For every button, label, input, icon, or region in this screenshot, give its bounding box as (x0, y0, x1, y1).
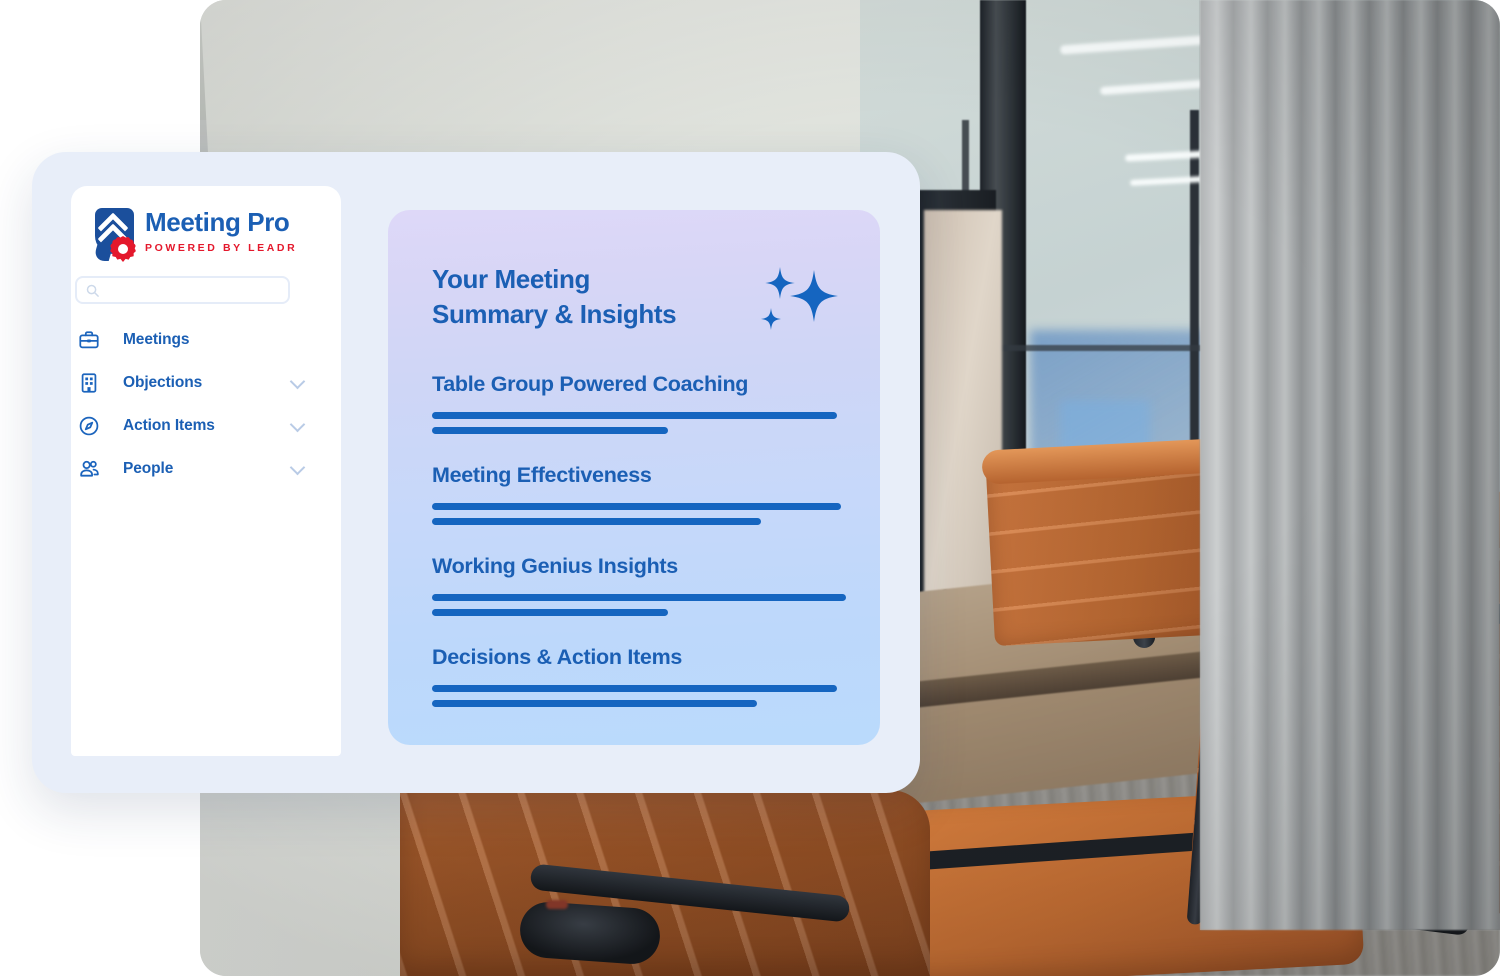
section-title: Meeting Effectiveness (432, 461, 854, 489)
search-icon (85, 283, 100, 298)
summary-sections: Table Group Powered Coaching Meeting Eff… (432, 370, 854, 707)
meeting-summary-card: Your Meeting Summary & Insights (388, 210, 880, 745)
placeholder-line-full (432, 594, 846, 601)
compass-icon (75, 412, 103, 440)
card-header: Your Meeting Summary & Insights (432, 262, 850, 340)
sidebar-item-label: People (123, 460, 173, 478)
sidebar-item-objections[interactable]: Objections (75, 361, 315, 404)
chevron-shield-icon (93, 208, 139, 260)
placeholder-line-full (432, 412, 837, 419)
sparkles-icon (758, 264, 844, 340)
briefcase-icon (75, 326, 103, 354)
building-icon (75, 369, 103, 397)
brand-tagline: POWERED BY LEADR (145, 240, 297, 256)
placeholder-line-short (432, 518, 761, 525)
sidebar: Meeting Pro POWERED BY LEADR (71, 186, 341, 756)
sidebar-item-label: Meetings (123, 331, 189, 349)
section-title: Working Genius Insights (432, 552, 854, 580)
chevron-down-icon[interactable] (290, 373, 306, 389)
summary-section: Working Genius Insights (432, 552, 854, 616)
section-placeholder-lines (432, 412, 854, 434)
section-placeholder-lines (432, 685, 854, 707)
summary-section: Decisions & Action Items (432, 643, 854, 707)
section-placeholder-lines (432, 503, 854, 525)
page-title: Your Meeting Summary & Insights (432, 262, 676, 332)
sidebar-item-meetings[interactable]: Meetings (75, 318, 315, 361)
card-title-line-1: Your Meeting (432, 262, 676, 297)
chevron-down-icon[interactable] (290, 416, 306, 432)
brand-logo: Meeting Pro POWERED BY LEADR (93, 206, 323, 264)
placeholder-line-short (432, 427, 668, 434)
gear-icon (110, 236, 136, 262)
sidebar-item-label: Action Items (123, 417, 215, 435)
sidebar-item-action-items[interactable]: Action Items (75, 404, 315, 447)
card-title-line-2: Summary & Insights (432, 297, 676, 332)
sidebar-item-people[interactable]: People (75, 447, 315, 490)
placeholder-line-full (432, 503, 841, 510)
placeholder-line-short (432, 609, 668, 616)
summary-section: Meeting Effectiveness (432, 461, 854, 525)
chevron-down-icon[interactable] (290, 459, 306, 475)
section-placeholder-lines (432, 594, 854, 616)
section-title: Table Group Powered Coaching (432, 370, 854, 398)
sidebar-item-label: Objections (123, 374, 202, 392)
brand-name: Meeting Pro (145, 206, 297, 238)
section-title: Decisions & Action Items (432, 643, 854, 671)
search-input[interactable] (106, 283, 276, 297)
summary-section: Table Group Powered Coaching (432, 370, 854, 434)
screenshot-root: Meeting Pro POWERED BY LEADR (0, 0, 1500, 976)
people-icon (75, 455, 103, 483)
app-panel: Meeting Pro POWERED BY LEADR (32, 152, 920, 793)
search-box[interactable] (75, 276, 290, 304)
sidebar-nav: Meetings Objections (75, 318, 315, 490)
placeholder-line-short (432, 700, 757, 707)
placeholder-line-full (432, 685, 837, 692)
